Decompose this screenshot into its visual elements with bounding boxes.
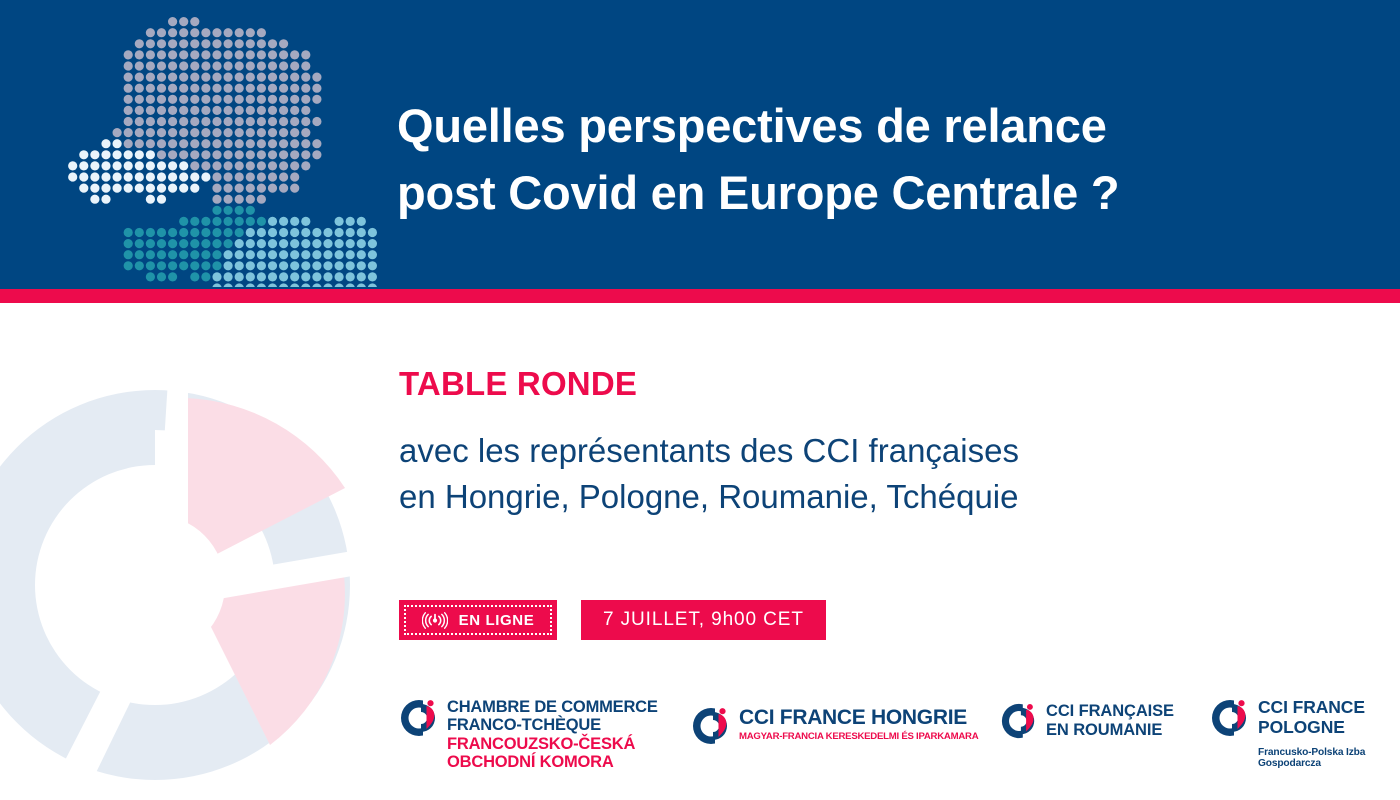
cci-logo-icon <box>691 706 731 751</box>
section-subtitle: avec les représentants des CCI française… <box>399 428 1279 519</box>
logo-line-navy-1: CCI FRANÇAISE <box>1046 702 1174 721</box>
date-badge: 7 JUILLET, 9h00 CET <box>581 600 826 640</box>
logo-cci-france-pologne: CCI FRANCE POLOGNE Francusko-Polska Izba… <box>1210 698 1400 769</box>
subtitle-line-2: en Hongrie, Pologne, Roumanie, Tchéquie <box>399 474 1279 520</box>
logo-line-navy-2: POLOGNE <box>1258 718 1400 738</box>
event-banner: Quelles perspectives de relance post Cov… <box>0 0 1400 800</box>
cci-logo-icon <box>399 698 439 743</box>
logo-cci-franco-tcheque: CHAMBRE DE COMMERCE FRANCO-TCHÈQUE FRANC… <box>399 698 658 772</box>
subtitle-line-1: avec les représentants des CCI française… <box>399 428 1279 474</box>
logo-line-pink-1: FRANCOUZSKO-ČESKÁ <box>447 735 658 753</box>
section-kicker: TABLE RONDE <box>399 365 637 403</box>
logo-line-navy-2: EN ROUMANIE <box>1046 721 1174 740</box>
headline-line-1: Quelles perspectives de relance <box>397 93 1297 160</box>
broadcast-icon <box>422 611 448 629</box>
logo-cci-france-hongrie: CCI FRANCE HONGRIE MAGYAR-FRANCIA KERESK… <box>691 706 978 751</box>
online-badge-label: EN LIGNE <box>459 612 535 629</box>
headline-line-2: post Covid en Europe Centrale ? <box>397 160 1297 227</box>
cci-logo-icon <box>1000 702 1038 745</box>
logo-sub-line: Francusko-Polska Izba Gospodarcza <box>1258 747 1400 769</box>
logo-line-navy-1: CCI FRANCE HONGRIE <box>739 706 978 729</box>
page-title: Quelles perspectives de relance post Cov… <box>397 93 1297 226</box>
logo-line-pink-2: OBCHODNÍ KOMORA <box>447 753 658 771</box>
logo-cci-francaise-en-roumanie: CCI FRANÇAISE EN ROUMANIE <box>1000 702 1174 745</box>
cci-logo-icon <box>1210 698 1250 743</box>
banner-header: Quelles perspectives de relance post Cov… <box>0 0 1400 289</box>
badge-row: EN LIGNE 7 JUILLET, 9h00 CET <box>399 600 826 640</box>
logo-line-navy-1: CCI FRANCE <box>1258 698 1400 718</box>
online-badge: EN LIGNE <box>399 600 557 640</box>
central-europe-dot-map-icon <box>55 15 385 287</box>
logo-line-navy-1: CHAMBRE DE COMMERCE <box>447 698 658 716</box>
logo-line-navy-2: FRANCO-TCHÈQUE <box>447 716 658 734</box>
accent-divider <box>0 289 1400 303</box>
partner-logo-row: CHAMBRE DE COMMERCE FRANCO-TCHÈQUE FRANC… <box>0 690 1400 790</box>
logo-line-pink-1: MAGYAR-FRANCIA KERESKEDELMI ÉS IPARKAMAR… <box>739 731 978 743</box>
